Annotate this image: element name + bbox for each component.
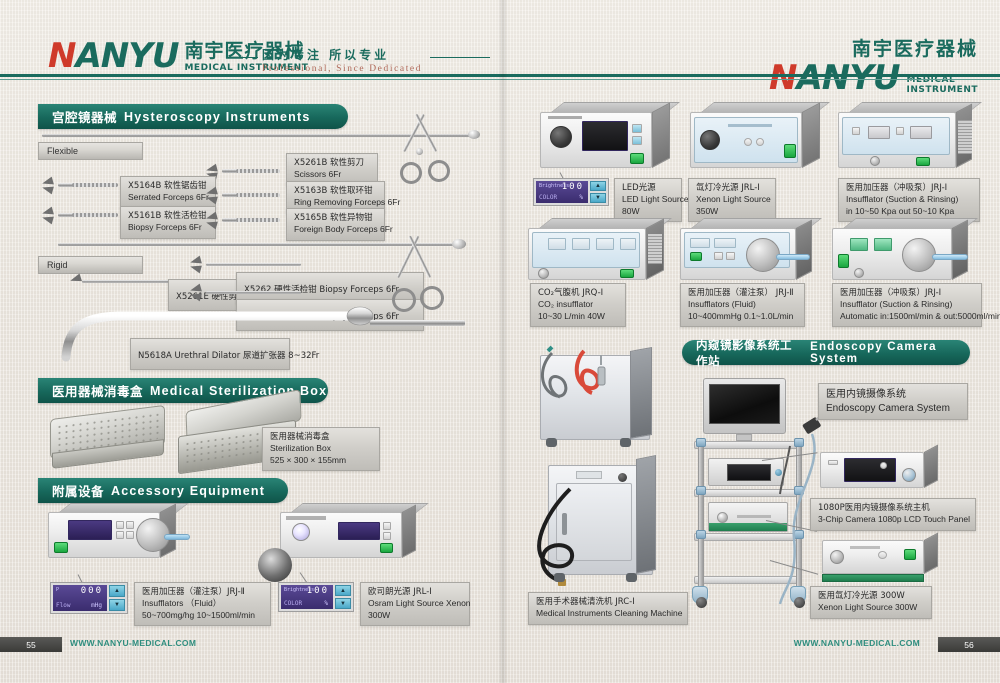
cleaning-machine-upper [540, 355, 650, 440]
device-button[interactable] [828, 460, 838, 465]
device-button [116, 521, 124, 529]
lcd-keypad[interactable]: ▲▼ [335, 585, 351, 609]
caption-x5165b: X5165B 软性异物钳 Foreign Body Forceps 6Fr [286, 208, 385, 241]
forceps-arm [415, 114, 437, 152]
device-side [952, 219, 968, 280]
device-osram-light-source [280, 512, 420, 572]
device-light-port [700, 130, 720, 150]
device-display [548, 238, 566, 250]
banner-cn: 内窥镜影像系统工作站 [696, 337, 803, 369]
forceps-ring-handle [397, 159, 425, 187]
device-power-button[interactable] [784, 144, 796, 158]
cart-caster [692, 586, 708, 604]
footer-url-left[interactable]: WWW.NANYU-MEDICAL.COM [70, 638, 196, 648]
caption-n5618a: N5618A Urethral Dilator 尿道扩张器 8~32Fr [130, 338, 290, 370]
flexible-scope-tip [468, 130, 480, 139]
caption-x5164b: X5164B 软性锯齿钳 Serrated Forceps 6Fr [120, 176, 216, 209]
device-button[interactable] [632, 124, 642, 133]
device-xenon-light-source [690, 112, 820, 182]
logo-right: 南宇医疗器械 NANYU MEDICAL INSTRUMENT [769, 34, 978, 95]
device-port [854, 268, 864, 278]
device-power-button[interactable] [54, 542, 68, 553]
device-light-port [292, 523, 310, 541]
device-button[interactable] [726, 252, 735, 260]
machine-caster [626, 573, 637, 582]
device-insufflator-fluid [48, 512, 178, 572]
device-button [116, 531, 124, 539]
device-power-button[interactable] [690, 252, 702, 261]
caption-xenon-300w: 医用氙灯冷光源 300W Xenon Light Source 300W [810, 586, 932, 619]
device-display [874, 238, 892, 251]
device-button[interactable] [632, 136, 642, 145]
forceps-arm [403, 114, 425, 152]
banner-en: Hysteroscopy Instruments [124, 110, 310, 124]
device-gas-port [538, 268, 549, 279]
logo-right-sub2: INSTRUMENT [906, 85, 978, 95]
instrument-jaw [69, 273, 82, 284]
forceps-ring-handle [425, 157, 453, 185]
section-banner-accessory: 附属设备 Accessory Equipment [38, 478, 288, 503]
caption-camera-system: 医用内镜摄像系统 Endoscopy Camera System [818, 383, 968, 420]
device-power-button[interactable] [904, 549, 916, 560]
device-tube [776, 254, 810, 260]
machine-label [576, 471, 602, 479]
device-1080p-camera-unit [820, 452, 940, 494]
device-button[interactable] [714, 252, 723, 260]
catalog-page: NANYU 南宇医疗器械 MEDICAL INSTRUMENT 因为专注 所以专… [0, 0, 1000, 683]
instrument-jaw [189, 263, 202, 274]
lcd-screen: P 000 Flow mHg [53, 585, 107, 611]
caption-osram-light: 欧司朗光源 JRL-Ⅰ Osram Light Source Xenon 300… [360, 582, 470, 626]
header-divider-thin [0, 79, 1000, 80]
flexible-scope-rod [42, 134, 472, 137]
device-xenon-300w [822, 540, 942, 582]
device-light-port [830, 550, 844, 564]
cart-post [698, 441, 704, 596]
caption-1080p-camera: 1080P医用内镜摄像系统主机 3-Chip Camera 1080p LCD … [810, 498, 976, 531]
device-panel [842, 117, 950, 155]
device-pump-head[interactable] [746, 238, 780, 272]
device-side [652, 102, 670, 168]
rigid-scope-tip [452, 239, 466, 249]
cleaning-machine-jrc1 [548, 465, 653, 575]
instrument-coil [72, 183, 118, 187]
device-tube [932, 254, 968, 260]
device-display [850, 238, 868, 251]
caption-insufflator-suction-1: 医用加压器（冲吸泵）JRJ-Ⅰ Insufflator (Suction & R… [838, 178, 980, 222]
footer-page-left: 55 [0, 637, 62, 652]
device-pump-head[interactable] [902, 238, 936, 272]
slogan: 因为专注 所以专业 Professional, Since Dedicated [262, 46, 492, 74]
device-display [620, 238, 636, 250]
banner-en: Accessory Equipment [111, 484, 265, 498]
instrument-jaw [41, 214, 54, 225]
lcd-keypad[interactable]: ▲▼ [109, 585, 125, 611]
lcd-callout-led: Brightness 100 COLOR % ▲▼ [533, 178, 609, 206]
device-lcd [338, 522, 380, 540]
machine-knob[interactable] [618, 473, 627, 482]
tag-flexible: Flexible [38, 142, 143, 160]
instrument-coil [236, 169, 280, 173]
device-button[interactable] [896, 127, 904, 135]
device-knob[interactable] [550, 126, 572, 148]
instrument-coil [72, 213, 118, 217]
machine-hoses [534, 345, 654, 435]
device-display [868, 126, 890, 139]
device-display [714, 238, 736, 248]
caption-sterilization-box: 医用器械消毒盒 Sterilization Box 525 × 300 × 15… [262, 427, 380, 471]
device-tube [164, 534, 190, 540]
device-power-button[interactable] [380, 543, 393, 553]
device-green-strip [822, 574, 924, 582]
lcd-callout-light: Brightness 100 COLOR % ▲▼ [278, 582, 354, 612]
section-banner-camera-system: 内窥镜影像系统工作站 Endoscopy Camera System [682, 340, 970, 365]
slogan-english: Professional, Since Dedicated [262, 64, 492, 74]
cart-joint [696, 530, 706, 539]
device-label [850, 546, 880, 549]
device-lcd [68, 520, 112, 540]
caption-led-light-source: LED光源 LED Light Source 80W [614, 178, 682, 222]
machine-caster [546, 438, 557, 447]
machine-side [636, 455, 656, 574]
banner-en: Endoscopy Camera System [810, 341, 970, 365]
device-vent [958, 120, 972, 154]
banner-cn: 医用器械消毒盒 [52, 381, 143, 400]
device-brandstrip [548, 116, 582, 119]
device-side [924, 533, 938, 574]
dilator-handle [370, 320, 465, 326]
device-button[interactable] [880, 462, 887, 469]
logo-left-wordmark: NANYU [48, 39, 178, 73]
device-port [870, 156, 880, 166]
device-insufflator-suction-1 [838, 112, 978, 182]
device-button[interactable] [756, 138, 764, 146]
instrument-jaw [41, 184, 54, 195]
device-button [383, 532, 391, 540]
lcd-keypad[interactable]: ▲▼ [590, 181, 606, 203]
light-source-port [717, 512, 728, 523]
device-side [402, 505, 416, 558]
device-side [802, 102, 820, 168]
rigid-scope-rod [58, 243, 458, 246]
logo-right-chinese: 南宇医疗器械 [769, 34, 978, 61]
cart-joint [696, 486, 706, 495]
forceps-pivot [416, 148, 423, 155]
cart-joint [696, 438, 706, 447]
device-lcd [582, 121, 628, 151]
slogan-chinese: 因为专注 所以专业 [262, 46, 492, 63]
device-side [924, 445, 938, 488]
footer-page-right: 56 [938, 637, 1000, 652]
device-button[interactable] [744, 138, 752, 146]
caption-x5161b: X5161B 软性活检钳 Biopsy Forceps 6Fr [120, 206, 216, 239]
section-banner-hysteroscopy: 宫腔镜器械 Hysteroscopy Instruments [38, 104, 348, 129]
device-button[interactable] [878, 551, 887, 559]
caption-xenon-light-source: 氙灯冷光源 JRL-Ⅰ Xenon Light Source 350W [688, 178, 776, 222]
device-power-button[interactable] [838, 254, 849, 268]
caption-cleaning-machine: 医用手术器械清洗机 JRC-Ⅰ Medical Instruments Clea… [528, 592, 688, 625]
device-lcd [844, 458, 896, 482]
device-button [126, 521, 134, 529]
endoscopy-cart [690, 378, 815, 618]
caption-co2-insufflator: CO₂气腹机 JRQ-Ⅰ CO₂ insufflator 10~30 L/min… [530, 283, 626, 327]
device-brandstrip [286, 516, 326, 520]
lcd-screen: Brightness 100 COLOR % [536, 181, 588, 203]
banner-cn: 附属设备 [52, 481, 104, 500]
device-power-button[interactable] [630, 153, 644, 164]
device-button [383, 522, 391, 530]
machine-caster [620, 438, 631, 447]
instrument-shaft [206, 291, 301, 294]
logo-right-wordmark: NANYU [769, 61, 899, 95]
instrument-shaft [206, 263, 301, 266]
device-button[interactable] [852, 127, 860, 135]
device-brandstrip [728, 124, 772, 127]
lcd-screen: Brightness 100 COLOR % [281, 585, 333, 609]
slogan-rule-left [238, 57, 258, 58]
footer-url-right[interactable]: WWW.NANYU-MEDICAL.COM [794, 638, 920, 648]
instrument-coil [236, 193, 280, 197]
device-power-button[interactable] [620, 269, 634, 278]
device-button [126, 531, 134, 539]
machine-caster [554, 573, 565, 582]
device-display [910, 126, 932, 139]
header-divider [0, 74, 1000, 77]
caption-insufflator-suction-2: 医用加压器（冲吸泵）JRJ-Ⅰ Insufflator (Suction & R… [832, 283, 982, 327]
tag-rigid: Rigid [38, 256, 143, 274]
device-power-button[interactable] [916, 157, 930, 166]
device-vent [648, 234, 662, 264]
sterilization-box-closed [50, 412, 165, 467]
device-port [902, 468, 916, 482]
caption-insufflator-fluid-2: 医用加压器（灌注泵） JRJ-Ⅱ Insufflators (Fluid) 10… [680, 283, 805, 327]
device-side [796, 219, 812, 280]
light-guide-coupler [258, 548, 292, 582]
instrument-coil [236, 218, 280, 222]
device-display [596, 238, 614, 250]
caption-insufflator-fluid: 医用加压器（灌注泵）JRJ-Ⅱ Insufflators （Fluid） 50~… [134, 582, 271, 626]
lcd-callout-insufflator: P 000 Flow mHg ▲▼ [50, 582, 128, 614]
device-display [690, 238, 710, 248]
banner-en: Medical Sterilization Box [150, 384, 327, 398]
device-display [572, 238, 590, 250]
slogan-rule-right [430, 57, 490, 58]
page-gutter-shadow [498, 0, 508, 683]
banner-cn: 宫腔镜器械 [52, 107, 117, 126]
